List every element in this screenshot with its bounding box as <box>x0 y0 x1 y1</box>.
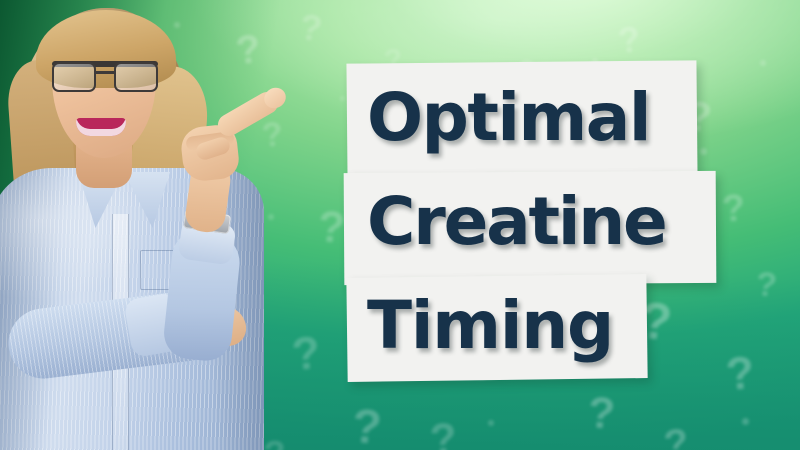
title-line-1: Optimal <box>367 66 719 170</box>
title-card-stack: Optimal Creatine Timing <box>0 0 800 450</box>
title-line-3: Timing <box>367 274 719 378</box>
title-line-2: Creatine <box>367 170 719 274</box>
thumbnail-canvas: ???????????????????????????? <box>0 0 800 450</box>
page-title: Optimal Creatine Timing <box>347 58 719 388</box>
